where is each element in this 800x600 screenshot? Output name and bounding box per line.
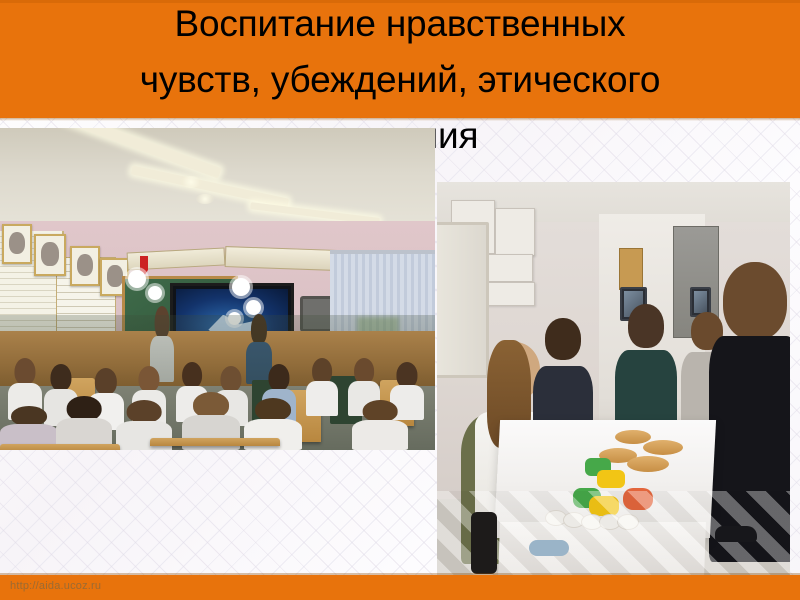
baked-goods [627,456,669,472]
classroom-lesson-photo [0,128,435,450]
black-shoe [715,526,757,542]
wooden-notice-board [619,248,643,290]
seated-student-foreground [352,400,408,450]
paper-flower-decoration [128,270,146,288]
boot [471,512,497,574]
wall-cabinet [495,208,535,256]
ceiling-spotlight [180,176,202,188]
footer-banner: http://aida.ucoz.ru [0,575,800,600]
ceiling-spotlight [196,194,214,204]
baked-goods [615,430,651,444]
seated-student [306,358,338,416]
wood-desk [150,438,280,446]
paper-flower-decoration [232,278,250,296]
paper-flower-decoration [246,300,261,315]
presentation-slide: Воспитание нравственных чувств, убеждени… [0,0,800,600]
sneaker [529,540,569,556]
charity-bake-sale-photo [437,182,790,578]
wall-portrait [34,234,66,276]
wood-desk [0,444,120,450]
wall-banner [225,246,338,271]
wall-portrait [2,224,32,264]
baked-goods [643,440,683,455]
source-watermark: http://aida.ucoz.ru [10,580,101,592]
wall-portrait [70,246,100,286]
paper-flower-decoration [148,286,162,300]
yellow-icing-cookie [597,470,625,488]
title-banner [0,3,800,118]
seated-student-foreground [56,396,112,450]
